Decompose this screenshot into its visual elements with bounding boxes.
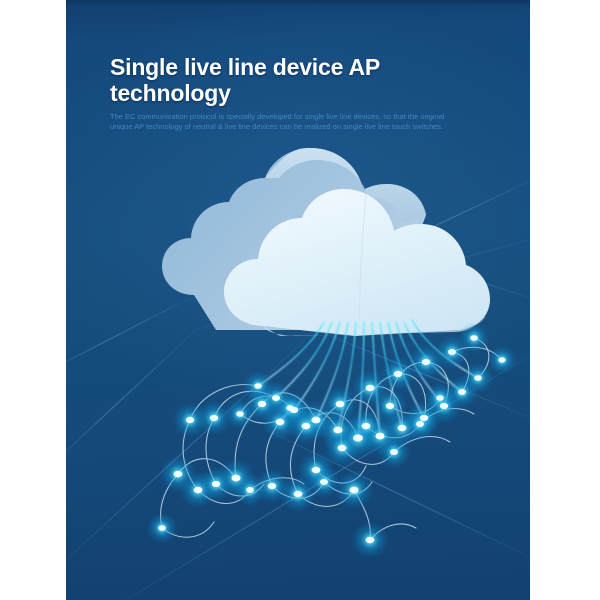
network-nodes: [146, 322, 517, 559]
cloud-icon: [162, 148, 490, 336]
cloud-network-illustration: [66, 0, 530, 600]
poster-canvas: Single live line device AP technology Th…: [66, 0, 530, 600]
